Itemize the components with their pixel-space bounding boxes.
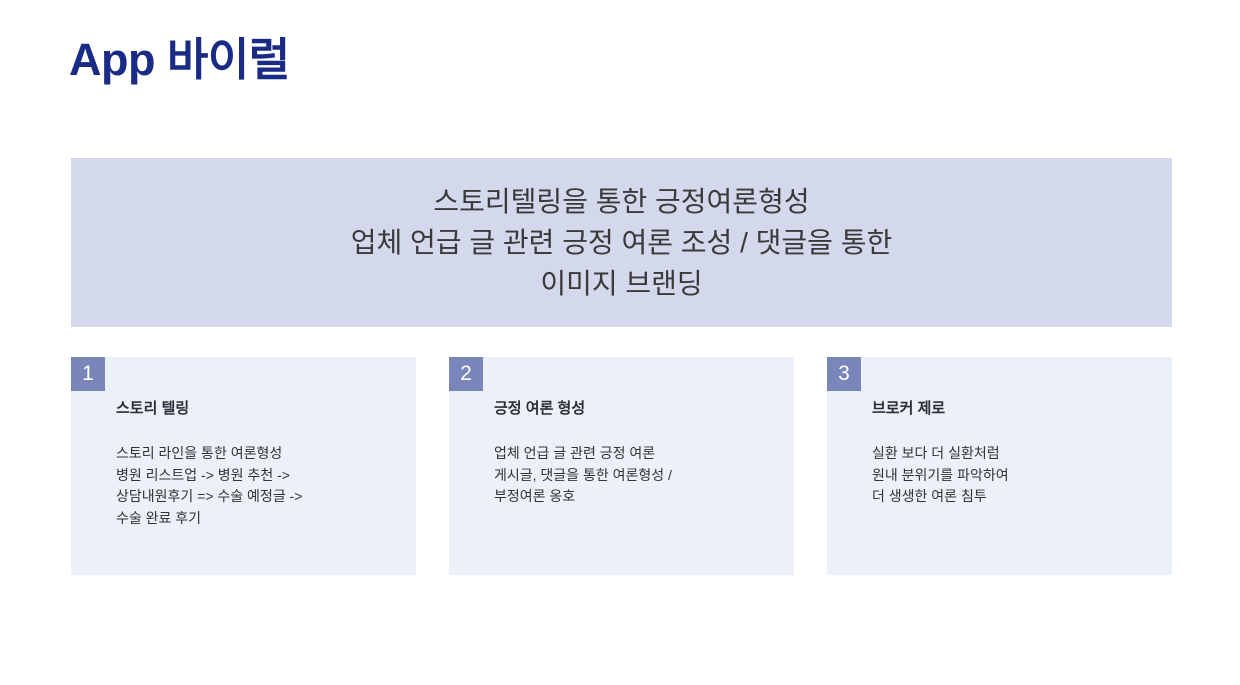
card-description: 업체 언급 글 관련 긍정 여론 게시글, 댓글을 통한 여론형성 / 부정여론… (494, 443, 780, 508)
card-content: 브로커 제로 실환 보다 더 실환처럼 원내 분위기를 파악하여 더 생생한 여… (872, 399, 1158, 508)
card-number-badge: 3 (827, 357, 861, 391)
card-title: 브로커 제로 (872, 399, 1158, 419)
strategy-card-list: 1 스토리 텔링 스토리 라인을 통한 여론형성 병원 리스트업 -> 병원 추… (71, 357, 1172, 575)
banner-line-2: 업체 언급 글 관련 긍정 여론 조성 / 댓글을 통한 (351, 222, 892, 263)
card-content: 긍정 여론 형성 업체 언급 글 관련 긍정 여론 게시글, 댓글을 통한 여론… (494, 399, 780, 508)
card-number-badge: 2 (449, 357, 483, 391)
strategy-card: 2 긍정 여론 형성 업체 언급 글 관련 긍정 여론 게시글, 댓글을 통한 … (449, 357, 794, 575)
card-description: 스토리 라인을 통한 여론형성 병원 리스트업 -> 병원 추천 -> 상담내원… (116, 443, 402, 529)
card-description: 실환 보다 더 실환처럼 원내 분위기를 파악하여 더 생생한 여론 침투 (872, 443, 1158, 508)
strategy-card: 3 브로커 제로 실환 보다 더 실환처럼 원내 분위기를 파악하여 더 생생한… (827, 357, 1172, 575)
banner-line-1: 스토리텔링을 통한 긍정여론형성 (433, 181, 809, 222)
banner-line-3: 이미지 브랜딩 (540, 263, 702, 304)
card-number-badge: 1 (71, 357, 105, 391)
card-content: 스토리 텔링 스토리 라인을 통한 여론형성 병원 리스트업 -> 병원 추천 … (116, 399, 402, 529)
strategy-card: 1 스토리 텔링 스토리 라인을 통한 여론형성 병원 리스트업 -> 병원 추… (71, 357, 416, 575)
card-title: 스토리 텔링 (116, 399, 402, 419)
card-title: 긍정 여론 형성 (494, 399, 780, 419)
page-title: App 바이럴 (69, 34, 290, 86)
summary-banner: 스토리텔링을 통한 긍정여론형성 업체 언급 글 관련 긍정 여론 조성 / 댓… (71, 158, 1172, 327)
